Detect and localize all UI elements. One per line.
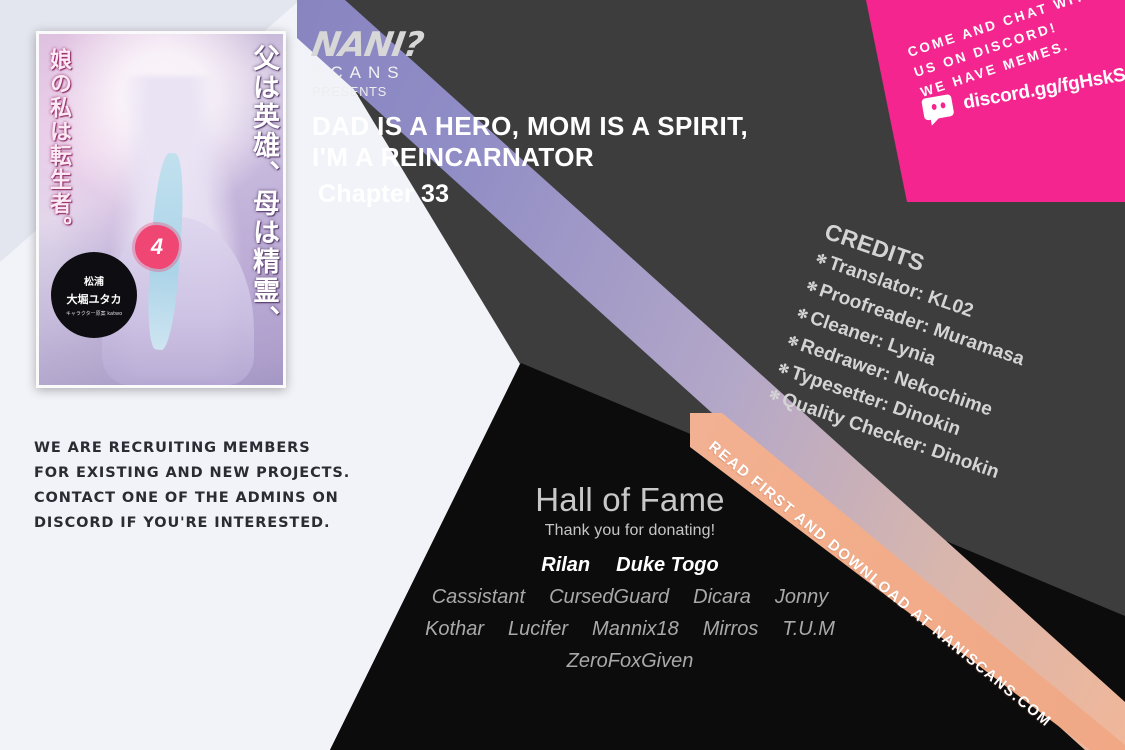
hall-of-fame-row: Kothar Lucifer Mannix18 Mirros T.U.M — [390, 618, 870, 641]
cover-designer-credit: キャラクター原案 katwo — [66, 310, 122, 317]
series-title-line-1: DAD IS A HERO, MOM IS A SPIRIT, — [312, 111, 872, 142]
donor-name: Kothar — [425, 618, 484, 641]
donor-name: Jonny — [775, 586, 828, 609]
volume-cover-image: 父は英雄、母は精霊、 娘の私は転生者。 4 松浦 大堀ユタカ キャラクター原案 … — [36, 31, 286, 388]
donor-name: Cassistant — [432, 586, 525, 609]
hall-of-fame-title: Hall of Fame — [390, 482, 870, 518]
hall-of-fame-top-donors: Rilan Duke Togo — [390, 554, 870, 577]
scans-wordmark: SCANS — [312, 64, 872, 83]
donor-name: Duke Togo — [616, 554, 719, 577]
hall-of-fame-row: ZeroFoxGiven — [390, 650, 870, 673]
donor-name: Dicara — [693, 586, 751, 609]
cover-japanese-title-sub: 娘の私は転生者。 — [47, 48, 69, 240]
nani-scans-logo: NANI? — [309, 28, 874, 62]
hall-of-fame-block: Hall of Fame Thank you for donating! Ril… — [390, 482, 870, 673]
hall-of-fame-subtitle: Thank you for donating! — [390, 522, 870, 540]
chapter-label: Chapter 33 — [318, 180, 872, 209]
cover-artist-name: 大堀ユタカ — [67, 291, 122, 307]
cover-author-badge: 松浦 大堀ユタカ キャラクター原案 katwo — [51, 252, 137, 338]
title-block: NANI? SCANS PRESENTS DAD IS A HERO, MOM … — [312, 28, 872, 209]
recruiting-line-2: FOR EXISTING AND NEW PROJECTS. — [34, 461, 364, 486]
donor-name: Lucifer — [508, 618, 568, 641]
donor-name: T.U.M — [782, 618, 835, 641]
credits-page: 父は英雄、母は精霊、 娘の私は転生者。 4 松浦 大堀ユタカ キャラクター原案 … — [0, 0, 1125, 750]
series-title: DAD IS A HERO, MOM IS A SPIRIT, I'M A RE… — [312, 111, 872, 172]
donor-name: CursedGuard — [549, 586, 669, 609]
discord-icon — [918, 88, 957, 127]
series-title-line-2: I'M A REINCARNATOR — [312, 142, 872, 173]
recruiting-line-1: WE ARE RECRUITING MEMBERS — [34, 436, 364, 461]
recruiting-notice: WE ARE RECRUITING MEMBERS FOR EXISTING A… — [34, 436, 364, 536]
donor-name: Rilan — [541, 554, 590, 577]
recruiting-line-3: CONTACT ONE OF THE ADMINS ON — [34, 486, 364, 511]
cover-volume-badge: 4 — [135, 225, 179, 269]
presents-label: PRESENTS — [312, 84, 872, 100]
recruiting-line-4: DISCORD IF YOU'RE INTERESTED. — [34, 511, 364, 536]
cover-author-name: 松浦 — [84, 273, 104, 288]
donor-name: Mirros — [703, 618, 759, 641]
donor-name: ZeroFoxGiven — [567, 650, 694, 673]
donor-name: Mannix18 — [592, 618, 679, 641]
cover-japanese-title-main: 父は英雄、母は精霊、 — [250, 44, 277, 334]
hall-of-fame-row: Cassistant CursedGuard Dicara Jonny — [390, 586, 870, 609]
